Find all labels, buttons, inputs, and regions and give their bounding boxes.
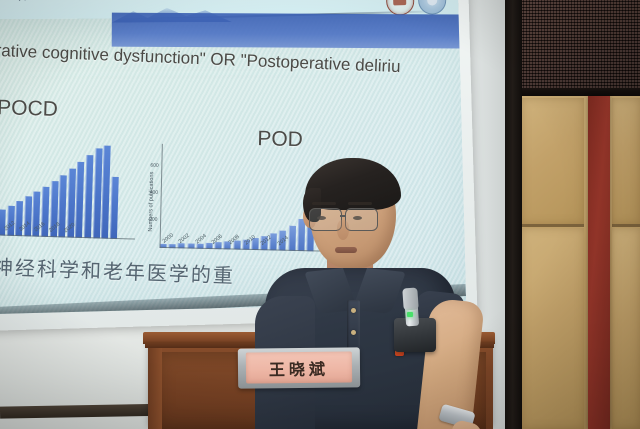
eyeglasses-bridge xyxy=(340,215,346,217)
nameplate-holder: 王晓斌 xyxy=(238,347,360,388)
wood-panel-lower-left xyxy=(522,228,584,429)
polo-button-top xyxy=(351,308,356,313)
wall-divider-column xyxy=(505,0,522,429)
speaker-eyebrow-right xyxy=(348,202,372,205)
speaker-eyebrow-left xyxy=(312,202,336,205)
red-accent-stripe xyxy=(588,96,610,429)
slide-bottom-text: 学、神经科学和老年医学的重 xyxy=(0,249,235,288)
chart-pod-x-ticks: 20002002200420062008201020122014 xyxy=(162,144,337,148)
eyeglasses-lens-right xyxy=(345,208,378,231)
wood-panel-lower-right xyxy=(612,228,640,429)
slide-header-title: （首都医科大学 教授） xyxy=(6,0,172,5)
chart-y-tick-label: 600 xyxy=(150,162,158,168)
wood-panel-upper-right xyxy=(612,98,640,224)
screenshot-root: （首都医科大学 教授） stoperative cognitive dysfun… xyxy=(0,0,640,429)
acoustic-mesh-panel xyxy=(520,0,640,92)
speaker-mouth xyxy=(335,247,357,253)
microphone-head xyxy=(402,288,418,311)
panel-seam xyxy=(612,224,640,227)
chart-bar xyxy=(0,209,6,236)
nameplate-text: 王晓斌 xyxy=(269,355,329,380)
chart-pod-y-ticks: 200400600 xyxy=(162,144,337,148)
wood-panel-upper-left xyxy=(522,98,584,224)
chart-pocd-x-ticks: 20062008201020122014201620182020 xyxy=(0,126,138,131)
chart-bar xyxy=(75,162,84,238)
chart-bar xyxy=(110,176,119,239)
panel-seam xyxy=(522,224,584,227)
chart-title-pocd: POCD xyxy=(0,96,58,122)
speaker-nose xyxy=(337,220,349,240)
polo-button-bottom xyxy=(351,330,356,335)
chart-bar xyxy=(24,196,32,236)
podium-side-panel xyxy=(148,344,162,429)
nameplate: 王晓斌 xyxy=(246,351,352,383)
microphone-power-led xyxy=(407,312,413,317)
chart-pocd: 20062008201020122014201620182020 xyxy=(0,126,138,239)
